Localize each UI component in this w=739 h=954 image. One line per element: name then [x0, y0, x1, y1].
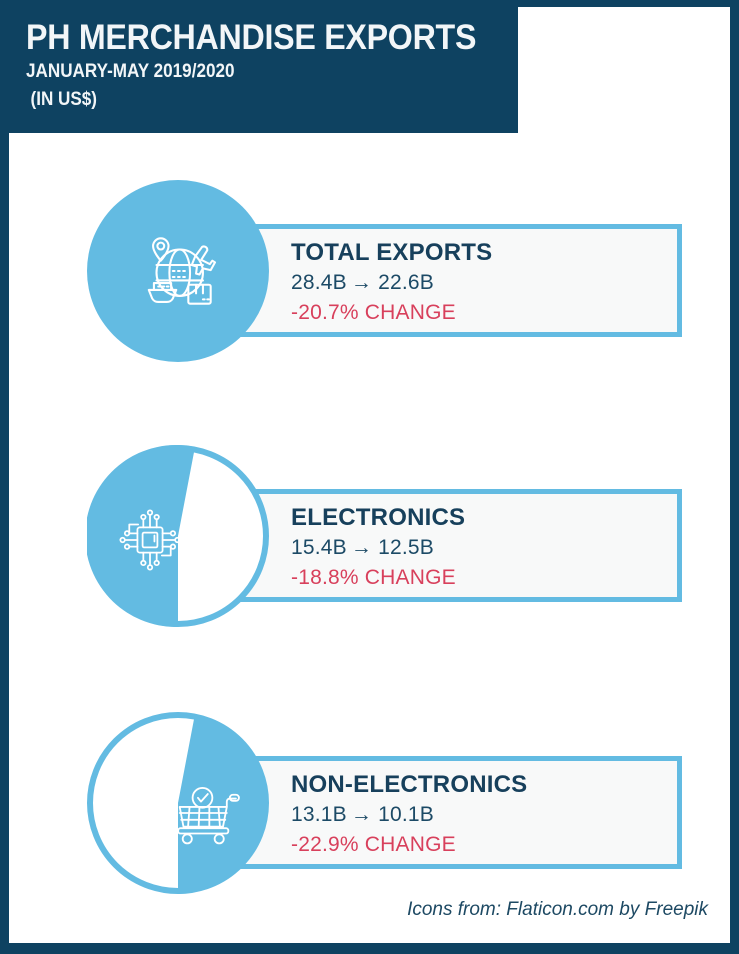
stat-change: -18.8% CHANGE [291, 563, 677, 592]
stat-card: ELECTRONICS 15.4B→12.5B -18.8% CHANGE [237, 489, 682, 602]
stat-title: TOTAL EXPORTS [291, 238, 677, 268]
stat-values: 28.4B→22.6B [291, 268, 677, 298]
stat-card: TOTAL EXPORTS 28.4B→22.6B -20.7% CHANGE [237, 224, 682, 337]
header-subtitle: JANUARY-MAY 2019/2020 [26, 60, 469, 83]
stat-value-from: 15.4B [291, 536, 347, 559]
stat-value-to: 12.5B [378, 536, 434, 559]
stat-row-electronics: ELECTRONICS 15.4B→12.5B -18.8% CHANGE [9, 437, 739, 637]
stat-change: -20.7% CHANGE [291, 298, 677, 327]
arrow-right-icon: → [347, 268, 378, 298]
stat-row-non-electronics: NON-ELECTRONICS 13.1B→10.1B -22.9% CHANG… [9, 704, 739, 904]
stat-value-from: 13.1B [291, 803, 347, 826]
stat-value-from: 28.4B [291, 271, 347, 294]
stat-change: -22.9% CHANGE [291, 830, 677, 859]
arrow-right-icon: → [347, 800, 378, 830]
header-unit-label: (IN US$) [26, 88, 469, 111]
microchip-icon [59, 449, 241, 631]
stat-circle-total-exports [87, 180, 269, 362]
stat-circle-electronics [87, 445, 269, 627]
stat-card: NON-ELECTRONICS 13.1B→10.1B -22.9% CHANG… [237, 756, 682, 869]
stat-values: 15.4B→12.5B [291, 533, 677, 563]
infographic-page: PH MERCHANDISE EXPORTS JANUARY-MAY 2019/… [0, 0, 739, 954]
stat-row-total-exports: TOTAL EXPORTS 28.4B→22.6B -20.7% CHANGE [9, 172, 739, 372]
page-title: PH MERCHANDISE EXPORTS [26, 20, 479, 56]
stat-value-to: 22.6B [378, 271, 434, 294]
arrow-right-icon: → [347, 533, 378, 563]
stat-circle-non-electronics [87, 712, 269, 894]
global-shipping-icon [87, 180, 269, 362]
icon-attribution: Icons from: Flaticon.com by Freepik [407, 899, 708, 921]
header-banner: PH MERCHANDISE EXPORTS JANUARY-MAY 2019/… [8, 6, 518, 133]
stat-title: NON-ELECTRONICS [291, 770, 677, 800]
stat-title: ELECTRONICS [291, 503, 677, 533]
stat-values: 13.1B→10.1B [291, 800, 677, 830]
stat-value-to: 10.1B [378, 803, 434, 826]
shopping-cart-icon [113, 722, 295, 904]
